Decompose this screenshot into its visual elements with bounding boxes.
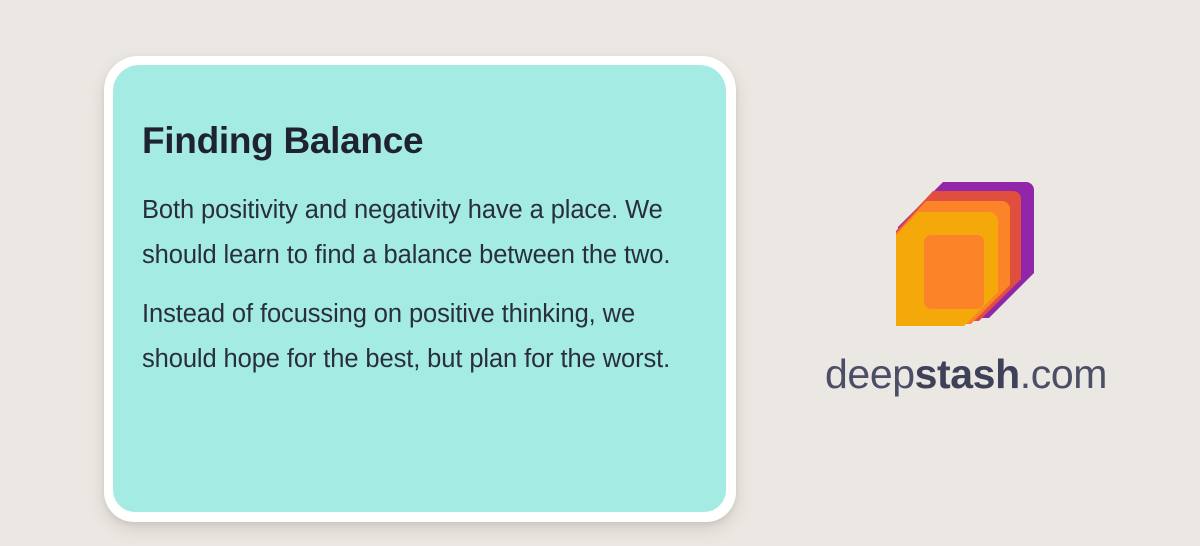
wordmark-tld: .com bbox=[1020, 351, 1107, 397]
page-title: Finding Balance bbox=[142, 122, 698, 159]
idea-card-surface: Finding Balance Both positivity and nega… bbox=[113, 65, 726, 512]
idea-paragraph-2: Instead of focussing on positive thinkin… bbox=[142, 292, 698, 382]
screenshot-stage: Finding Balance Both positivity and nega… bbox=[0, 0, 1200, 546]
wordmark-stash: stash bbox=[915, 351, 1020, 397]
brand-wordmark[interactable]: deepstash.com bbox=[825, 354, 1107, 395]
brand-block: deepstash.com bbox=[796, 180, 1136, 395]
idea-paragraph-1: Both positivity and negativity have a pl… bbox=[142, 188, 698, 278]
wordmark-deep: deep bbox=[825, 351, 915, 397]
idea-card[interactable]: Finding Balance Both positivity and nega… bbox=[104, 56, 736, 522]
deepstash-logo-icon bbox=[896, 180, 1036, 326]
